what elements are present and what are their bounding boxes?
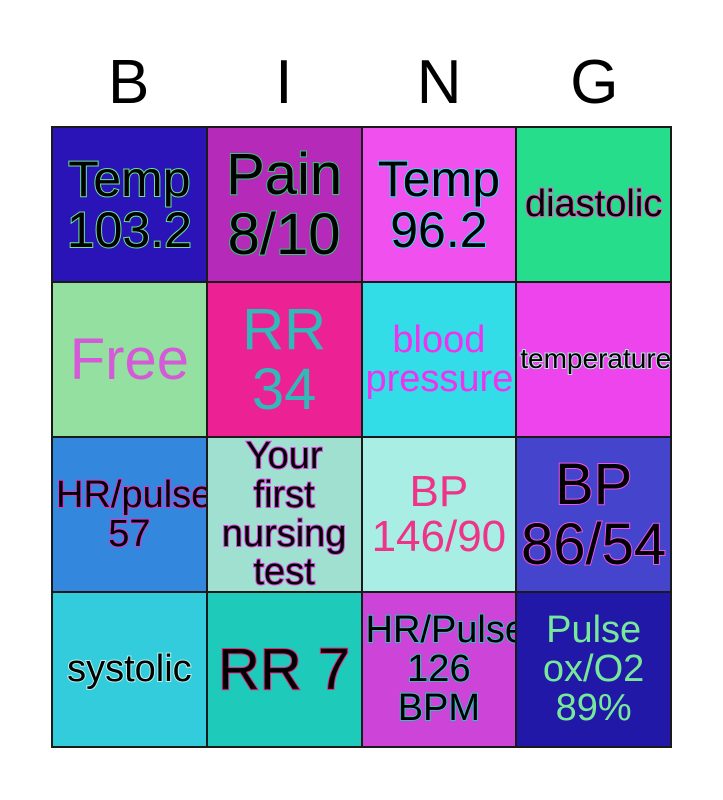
bingo-cell-label: RR 34 bbox=[208, 300, 361, 418]
bingo-cell-r1c4[interactable]: diastolic bbox=[517, 128, 670, 281]
bingo-card: BING Temp 103.2Pain 8/10Temp 96.2diastol… bbox=[0, 0, 723, 800]
bingo-cell-label: BP 146/90 bbox=[363, 470, 516, 560]
bingo-cell-r4c1[interactable]: systolic bbox=[53, 593, 206, 746]
bingo-cell-r4c3[interactable]: HR/Pulse 126 BPM bbox=[363, 593, 516, 746]
bingo-cell-label: HR/Pulse 126 BPM bbox=[363, 611, 516, 727]
bingo-cell-r2c4[interactable]: temperature bbox=[517, 283, 670, 436]
bingo-cell-label: blood pressure bbox=[363, 321, 516, 399]
bingo-cell-label: diastolic bbox=[517, 185, 670, 224]
bingo-cell-label: HR/pulse 57 bbox=[53, 476, 206, 554]
bingo-cell-label: Pain 8/10 bbox=[208, 145, 361, 263]
bingo-cell-r4c2[interactable]: RR 7 bbox=[208, 593, 361, 746]
bingo-cell-label: Pulse ox/O2 89% bbox=[517, 611, 670, 727]
bingo-cell-r2c2[interactable]: RR 34 bbox=[208, 283, 361, 436]
bingo-cell-r3c2[interactable]: Your first nursing test bbox=[208, 438, 361, 591]
bingo-cell-r2c1[interactable]: Free bbox=[53, 283, 206, 436]
bingo-cell-r2c3[interactable]: blood pressure bbox=[363, 283, 516, 436]
bingo-cell-label: systolic bbox=[53, 650, 206, 689]
bingo-header-letter-3: G bbox=[517, 46, 672, 120]
bingo-cell-label: Temp 103.2 bbox=[53, 154, 206, 256]
bingo-cell-r1c3[interactable]: Temp 96.2 bbox=[363, 128, 516, 281]
bingo-header-letter-0: B bbox=[51, 46, 206, 120]
bingo-cell-r4c4[interactable]: Pulse ox/O2 89% bbox=[517, 593, 670, 746]
bingo-cell-label: Free bbox=[53, 330, 206, 389]
bingo-cell-label: RR 7 bbox=[208, 640, 361, 699]
bingo-header-letter-2: N bbox=[362, 46, 517, 120]
bingo-header: BING bbox=[51, 46, 672, 120]
bingo-cell-r3c3[interactable]: BP 146/90 bbox=[363, 438, 516, 591]
bingo-cell-r3c4[interactable]: BP 86/54 bbox=[517, 438, 670, 591]
bingo-cell-label: BP 86/54 bbox=[517, 455, 670, 573]
bingo-cell-r3c1[interactable]: HR/pulse 57 bbox=[53, 438, 206, 591]
bingo-cell-label: temperature bbox=[517, 345, 670, 374]
bingo-cell-label: Temp 96.2 bbox=[363, 154, 516, 256]
bingo-cell-label: Your first nursing test bbox=[208, 438, 361, 591]
bingo-header-letter-1: I bbox=[206, 46, 361, 120]
bingo-grid: Temp 103.2Pain 8/10Temp 96.2diastolicFre… bbox=[51, 126, 672, 748]
bingo-cell-r1c1[interactable]: Temp 103.2 bbox=[53, 128, 206, 281]
bingo-cell-r1c2[interactable]: Pain 8/10 bbox=[208, 128, 361, 281]
